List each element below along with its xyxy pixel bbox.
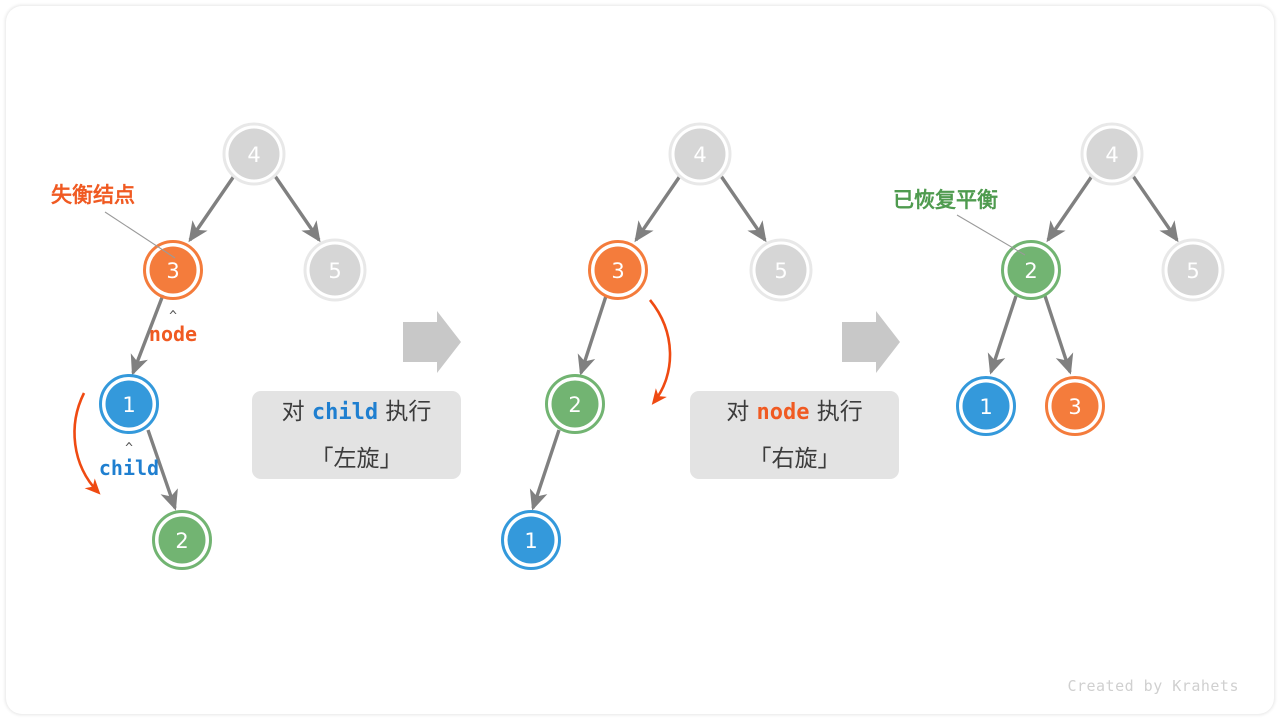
node-value: 4 [247, 143, 260, 167]
node-value: 3 [611, 259, 624, 283]
edge-2-1 [991, 296, 1016, 372]
edge-4-3 [190, 176, 234, 240]
step-prefix: 对 [282, 399, 305, 425]
node-pointer-label: node [149, 322, 197, 346]
edge-4-5 [721, 176, 765, 240]
transition-arrow-2 [842, 311, 900, 373]
stage-before: 4 5 3 1 2 [51, 124, 365, 569]
child-pointer-label: child [99, 456, 159, 480]
edge-2-1 [533, 430, 559, 508]
node-value: 1 [979, 395, 992, 419]
step-box-left-rotate: 对 child 执行 「左旋」 [252, 391, 461, 479]
credit-text: Created by Krahets [1067, 677, 1239, 695]
edge-2-3 [1045, 296, 1070, 372]
left-rotation-arrow [75, 393, 98, 492]
step-code-token: node [757, 400, 810, 425]
step-line-2: 「右旋」 [749, 436, 841, 482]
tree-node-1[interactable]: 1 [958, 378, 1015, 435]
stage-middle: 4 5 3 2 1 [503, 124, 812, 569]
node-value: 3 [166, 259, 179, 283]
node-value: 5 [328, 259, 341, 283]
diagram-canvas: 4 5 3 1 2 [0, 0, 1280, 720]
tree-node-4[interactable]: 4 [1082, 124, 1142, 184]
tree-node-5[interactable]: 5 [305, 240, 365, 300]
node-value: 1 [122, 393, 135, 417]
tree-node-2[interactable]: 2 [1003, 242, 1060, 299]
node-value: 1 [524, 529, 537, 553]
child-pointer-caret: ^ [125, 441, 133, 456]
node-value: 3 [1068, 395, 1081, 419]
edge-4-5 [1133, 176, 1177, 240]
rebalanced-label: 已恢复平衡 [893, 188, 998, 212]
tree-node-4[interactable]: 4 [224, 124, 284, 184]
tree-node-5[interactable]: 5 [751, 240, 811, 300]
step-prefix: 对 [726, 399, 749, 425]
stage-after: 4 5 2 1 3 已恢复平衡 [893, 124, 1223, 435]
node-value: 4 [1105, 143, 1118, 167]
tree-node-2[interactable]: 2 [154, 512, 211, 569]
step-code-token: child [312, 400, 378, 425]
edge-4-3 [636, 176, 680, 240]
step-line-1: 对 child 执行 [282, 389, 432, 436]
tree-node-5[interactable]: 5 [1163, 240, 1223, 300]
node-value: 2 [568, 393, 581, 417]
node-value: 5 [1186, 259, 1199, 283]
node-value: 2 [175, 529, 188, 553]
tree-node-1[interactable]: 1 [101, 376, 158, 433]
unbalanced-node-label: 失衡结点 [51, 183, 135, 207]
annotation-leader-line [957, 215, 1025, 255]
step-suffix: 执行 [817, 399, 863, 425]
node-value: 4 [693, 143, 706, 167]
tree-node-2[interactable]: 2 [547, 376, 604, 433]
edge-4-5 [275, 176, 319, 240]
annotation-leader-line [105, 212, 175, 258]
tree-node-4[interactable]: 4 [670, 124, 730, 184]
diagram-svg: 4 5 3 1 2 [0, 0, 1280, 720]
tree-node-3[interactable]: 3 [1047, 378, 1104, 435]
edge-3-2 [581, 296, 606, 373]
node-value: 2 [1024, 259, 1037, 283]
tree-node-1[interactable]: 1 [503, 512, 560, 569]
edge-4-2 [1048, 176, 1092, 240]
step-line-2: 「左旋」 [311, 436, 403, 482]
tree-node-3[interactable]: 3 [590, 242, 647, 299]
step-line-1: 对 node 执行 [726, 389, 863, 436]
node-value: 5 [774, 259, 787, 283]
step-box-right-rotate: 对 node 执行 「右旋」 [690, 391, 899, 479]
transition-arrow-1 [403, 311, 461, 373]
right-rotation-arrow [650, 300, 670, 402]
tree-node-3[interactable]: 3 [145, 242, 202, 299]
step-suffix: 执行 [385, 399, 431, 425]
